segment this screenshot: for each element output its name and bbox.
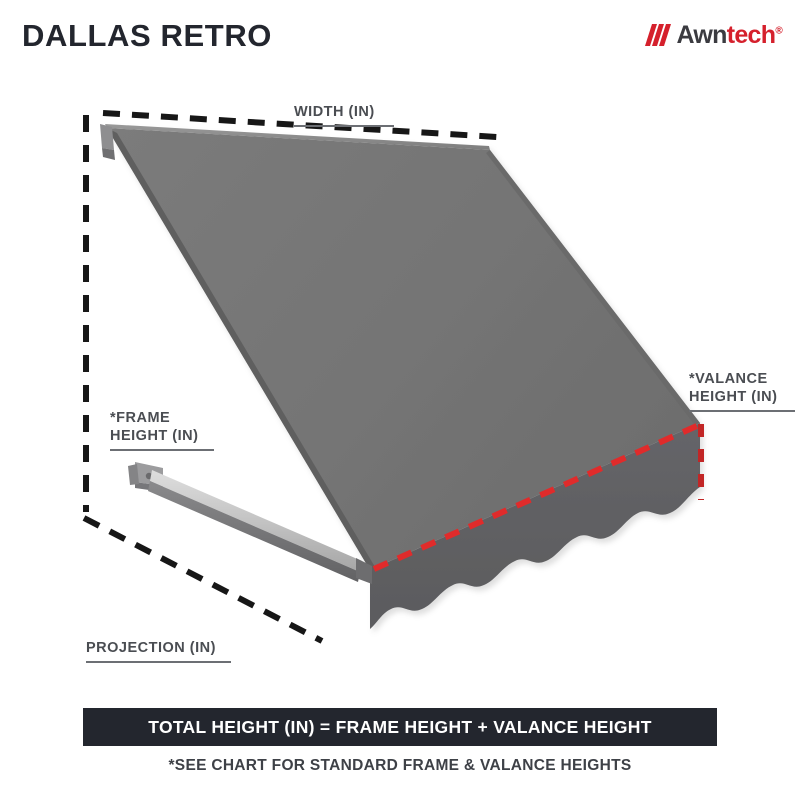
chart-note: *SEE CHART FOR STANDARD FRAME & VALANCE … [0,757,800,775]
label-projection-text: PROJECTION (IN) [86,640,216,656]
total-height-banner: TOTAL HEIGHT (IN) = FRAME HEIGHT + VALAN… [83,708,717,746]
label-valance-height-underline [689,410,795,412]
label-frame-height: *FRAME HEIGHT (IN) [110,391,240,470]
label-width-text: WIDTH (IN) [294,104,375,120]
awning-spec-diagram-page: DALLAS RETRO Awntech® [0,0,800,800]
label-width: WIDTH (IN) [294,85,414,145]
total-height-formula: TOTAL HEIGHT (IN) = FRAME HEIGHT + VALAN… [148,717,651,738]
diagram-stage: WIDTH (IN) *FRAME HEIGHT (IN) *VALANCE H… [0,0,800,700]
label-width-underline [294,125,394,127]
label-projection-underline [86,661,231,663]
label-valance-height-text: *VALANCE HEIGHT (IN) [689,371,777,405]
label-projection: PROJECTION (IN) [86,621,256,681]
label-frame-height-underline [110,449,214,451]
label-frame-height-text: *FRAME HEIGHT (IN) [110,410,198,444]
label-valance-height: *VALANCE HEIGHT (IN) [689,352,800,431]
